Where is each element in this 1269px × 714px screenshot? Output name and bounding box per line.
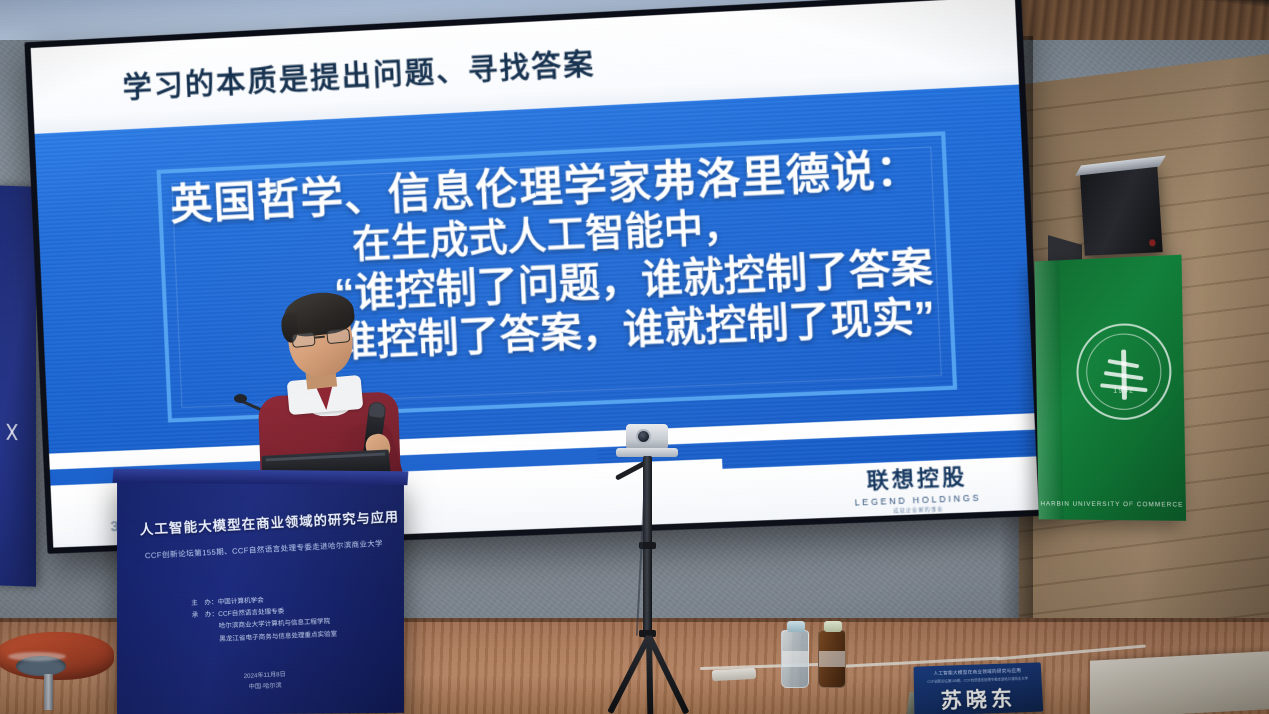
speaker-status-led-icon: [1149, 239, 1156, 247]
stool-seat: [0, 632, 114, 680]
tripod-leg: [607, 635, 651, 714]
podium-date-location: 2024年11月8日 中国·哈尔滨: [139, 664, 389, 698]
stool-highlight: [8, 652, 66, 661]
left-blue-banner: [0, 185, 36, 586]
tea-bottle: [818, 630, 846, 688]
podium-event-title: 人工智能大模型在商业领域的研究与应用: [139, 506, 389, 539]
university-green-banner: 1952 HARBIN UNIVERSITY OF COMMERCE: [1034, 255, 1186, 521]
slide-surface: 学习的本质是提出问题、寻找答案 英国哲学、信息伦理学家弗洛里德说： 在生成式人工…: [31, 0, 1039, 548]
water-bottle: [781, 630, 809, 688]
power-strip: [712, 668, 757, 681]
podium-sign: 人工智能大模型在商业领域的研究与应用 CCF创新论坛第155期、CCF自然语言处…: [139, 511, 388, 693]
front-table: [1090, 651, 1269, 714]
camera-lens-icon: [636, 429, 651, 444]
banner-fold: [1034, 260, 1063, 519]
slide-title: 学习的本质是提出问题、寻找答案: [122, 41, 596, 108]
podium: 人工智能大模型在商业领域的研究与应用 CCF创新论坛第155期、CCF自然语言处…: [117, 479, 404, 714]
placard-speaker-name: 苏晓东: [914, 682, 1043, 714]
emblem-year: 1952: [1079, 387, 1170, 396]
red-stool: [0, 616, 120, 688]
emblem-name-text: HARBIN UNIVERSITY OF COMMERCE: [1038, 501, 1186, 509]
legend-holdings-logo: 联想控股 LEGEND HOLDINGS 成就企业家的事业: [853, 460, 982, 516]
legend-logo-cn: 联想控股: [853, 460, 981, 496]
speaker-name-placard: 人工智能大模型在商业领域的研究与应用 CCF创新论坛第155期、CCF自然语言处…: [914, 662, 1044, 714]
mic-head-icon: [234, 394, 247, 403]
bottle-cap: [824, 621, 842, 632]
placard-header: 人工智能大模型在商业领域的研究与应用 CCF创新论坛第155期、CCF自然语言处…: [914, 662, 1042, 684]
camera-tripod: [596, 424, 706, 714]
conference-hall-photo: 学习的本质是提出问题、寻找答案 英国哲学、信息伦理学家弗洛里德说： 在生成式人工…: [0, 0, 1269, 714]
bottle-label: [819, 651, 845, 667]
stool-post: [44, 674, 53, 710]
bottle-label: [782, 651, 808, 667]
bottle-cap: [787, 621, 805, 632]
laptop-lid-edge: [266, 453, 385, 462]
podium-organizers: 主 办：中国计算机学会 承 办：CCF自然语言处理专委 哈尔滨商业大学计算机与信…: [191, 592, 337, 647]
wall-speaker: [1080, 164, 1163, 256]
podium-top-surface: [112, 469, 408, 486]
banner-mark-icon: [0, 423, 24, 440]
university-emblem-icon: 1952: [1076, 322, 1172, 420]
